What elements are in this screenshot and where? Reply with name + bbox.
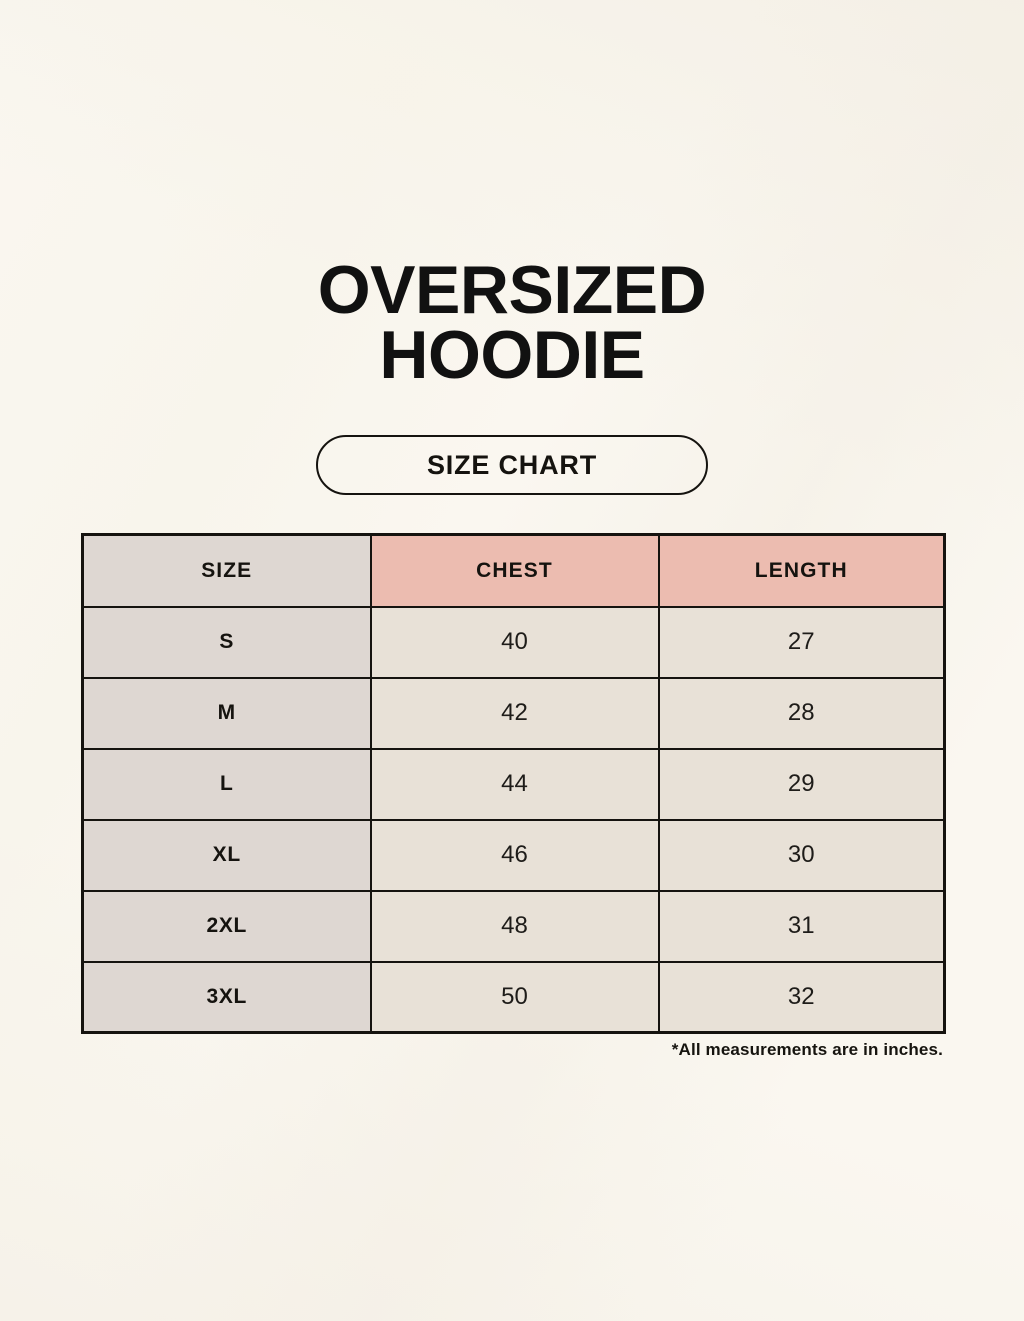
size-table-container: SIZE CHEST LENGTH S 40 27 M 42 28 L [81, 533, 943, 1034]
table-row: S 40 27 [83, 607, 945, 678]
cell-length: 31 [659, 891, 945, 962]
cell-length: 27 [659, 607, 945, 678]
cell-chest: 40 [371, 607, 659, 678]
cell-length: 29 [659, 749, 945, 820]
cell-chest: 48 [371, 891, 659, 962]
cell-size: S [83, 607, 371, 678]
cell-size: XL [83, 820, 371, 891]
table-header-row: SIZE CHEST LENGTH [83, 535, 945, 607]
cell-size: 3XL [83, 962, 371, 1033]
size-table: SIZE CHEST LENGTH S 40 27 M 42 28 L [81, 533, 946, 1034]
cell-chest: 46 [371, 820, 659, 891]
measurements-note: *All measurements are in inches. [81, 1040, 943, 1060]
cell-size: L [83, 749, 371, 820]
cell-length: 28 [659, 678, 945, 749]
size-table-body: S 40 27 M 42 28 L 44 29 XL 46 30 [83, 607, 945, 1033]
size-chart-page: OVERSIZED HOODIE SIZE CHART SIZE CHEST L… [0, 0, 1024, 1321]
table-row: XL 46 30 [83, 820, 945, 891]
column-header-size: SIZE [83, 535, 371, 607]
column-header-length: LENGTH [659, 535, 945, 607]
size-chart-badge: SIZE CHART [316, 435, 708, 495]
cell-size: 2XL [83, 891, 371, 962]
cell-length: 32 [659, 962, 945, 1033]
size-table-head: SIZE CHEST LENGTH [83, 535, 945, 607]
cell-size: M [83, 678, 371, 749]
page-title-line-2: HOODIE [0, 323, 1024, 388]
page-title-line-1: OVERSIZED [0, 258, 1024, 323]
cell-chest: 42 [371, 678, 659, 749]
table-row: 2XL 48 31 [83, 891, 945, 962]
table-row: M 42 28 [83, 678, 945, 749]
size-chart-badge-label: SIZE CHART [427, 450, 597, 481]
cell-length: 30 [659, 820, 945, 891]
cell-chest: 50 [371, 962, 659, 1033]
table-row: 3XL 50 32 [83, 962, 945, 1033]
table-row: L 44 29 [83, 749, 945, 820]
cell-chest: 44 [371, 749, 659, 820]
page-title: OVERSIZED HOODIE [0, 258, 1024, 389]
column-header-chest: CHEST [371, 535, 659, 607]
